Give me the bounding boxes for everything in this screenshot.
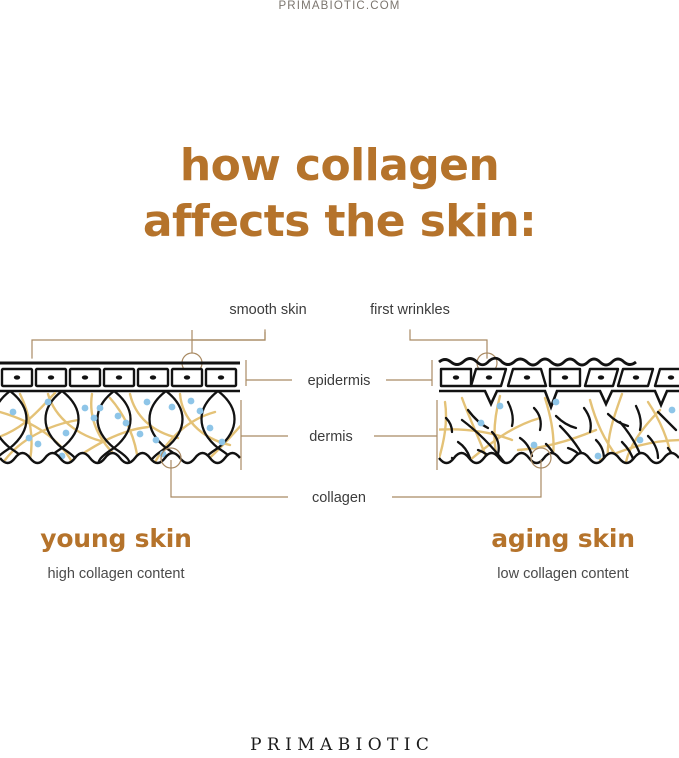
young-dermis-bottom-wave bbox=[0, 453, 240, 463]
page-title-line-2: affects the skin: bbox=[0, 194, 679, 250]
column-subtitle-aging: low collagen content bbox=[447, 565, 679, 583]
aging-collagen-fibers bbox=[446, 402, 678, 468]
site-url-header: PRIMABIOTIC.COM bbox=[0, 0, 679, 12]
skin-cross-section-diagram: smooth skin first wrinkles bbox=[0, 290, 679, 520]
column-caption-aging-skin: aging skin low collagen content bbox=[447, 524, 679, 583]
aging-epidermis-bottom-line bbox=[439, 391, 679, 407]
column-title-aging: aging skin bbox=[447, 524, 679, 554]
column-title-young: young skin bbox=[0, 524, 232, 554]
young-skin-block bbox=[0, 363, 248, 466]
aging-epidermis-top-line bbox=[439, 358, 636, 365]
infographic-page: PRIMABIOTIC.COM how collagen affects the… bbox=[0, 0, 679, 758]
callout-leader-lines bbox=[32, 330, 487, 358]
page-title-line-1: how collagen bbox=[0, 138, 679, 194]
smooth-skin-leader-arm bbox=[192, 332, 265, 340]
layer-label-collagen: collagen bbox=[312, 490, 366, 506]
callout-label-smooth-skin: smooth skin bbox=[229, 302, 306, 318]
aging-epidermis-cells bbox=[441, 369, 679, 386]
layer-label-dermis: dermis bbox=[309, 429, 353, 445]
aging-skin-block bbox=[432, 358, 679, 468]
layer-label-epidermis: epidermis bbox=[308, 373, 371, 389]
callout-label-first-wrinkles: first wrinkles bbox=[370, 302, 450, 318]
page-title: how collagen affects the skin: bbox=[0, 138, 679, 250]
column-subtitle-young: high collagen content bbox=[0, 565, 232, 583]
footer-brand-wordmark: PRIMABIOTIC bbox=[0, 735, 679, 755]
column-caption-young-skin: young skin high collagen content bbox=[0, 524, 232, 583]
